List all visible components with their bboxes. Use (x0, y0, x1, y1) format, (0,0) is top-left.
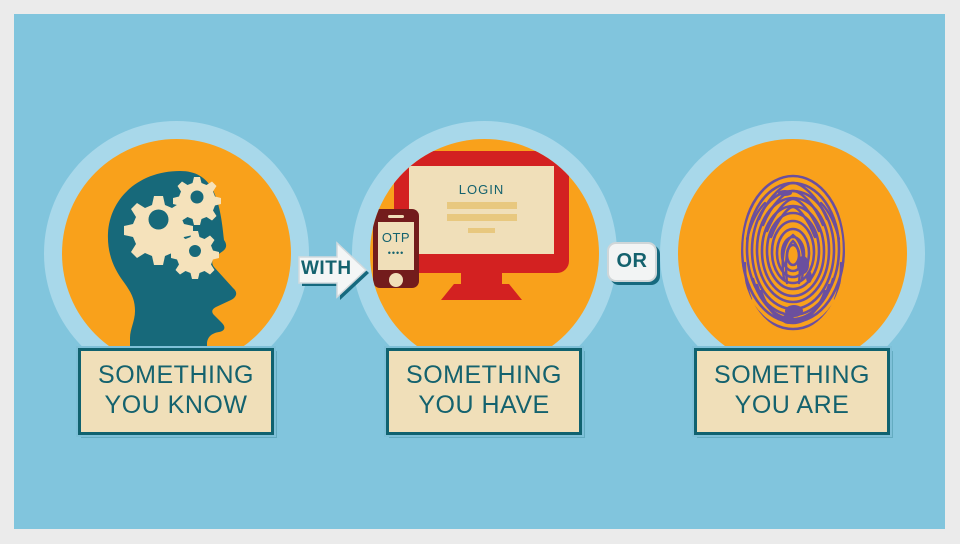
disc-circle-are (678, 139, 907, 368)
or-badge-label: OR (607, 250, 657, 273)
label-line-2: YOU KNOW (87, 391, 265, 421)
disc-circle-know (62, 139, 291, 368)
disc-circle-have: LOGIN OTP •••• (370, 139, 599, 368)
brain-gears-head-icon (62, 139, 291, 368)
label-plaque-are: SOMETHING YOU ARE (694, 348, 890, 435)
login-field-password (447, 214, 517, 221)
connector-with-arrow: WITH (295, 239, 370, 301)
phone-screen: OTP •••• (378, 222, 414, 270)
label-line-2: YOU ARE (703, 391, 881, 421)
fingerprint-icon (737, 159, 849, 334)
right-arrow-icon (295, 239, 370, 301)
connector-or-badge: OR (607, 242, 661, 286)
monitor-base (441, 284, 522, 300)
panel-something-you-are: SOMETHING YOU ARE (642, 14, 942, 529)
phone-otp-icon: OTP •••• (373, 209, 419, 288)
label-line-1: SOMETHING (395, 361, 573, 391)
label-line-1: SOMETHING (703, 361, 881, 391)
panel-something-you-know: SOMETHING YOU KNOW (26, 14, 326, 529)
login-submit-button (468, 228, 495, 233)
login-title: LOGIN (409, 182, 554, 197)
login-field-username (447, 202, 517, 209)
panel-something-you-have: LOGIN OTP •••• (334, 14, 634, 529)
phone-speaker (388, 215, 404, 218)
infographic-canvas: SOMETHING YOU KNOW WITH LOGIN (14, 14, 945, 529)
otp-pin-dots: •••• (378, 248, 414, 258)
label-plaque-know: SOMETHING YOU KNOW (78, 348, 274, 435)
monitor-screen: LOGIN (409, 166, 554, 254)
monitor-icon: LOGIN (394, 151, 569, 273)
phone-home-button (389, 273, 403, 287)
label-plaque-have: SOMETHING YOU HAVE (386, 348, 582, 435)
mfa-infographic: SOMETHING YOU KNOW WITH LOGIN (0, 0, 960, 544)
label-line-2: YOU HAVE (395, 391, 573, 421)
otp-title: OTP (378, 231, 414, 244)
label-line-1: SOMETHING (87, 361, 265, 391)
